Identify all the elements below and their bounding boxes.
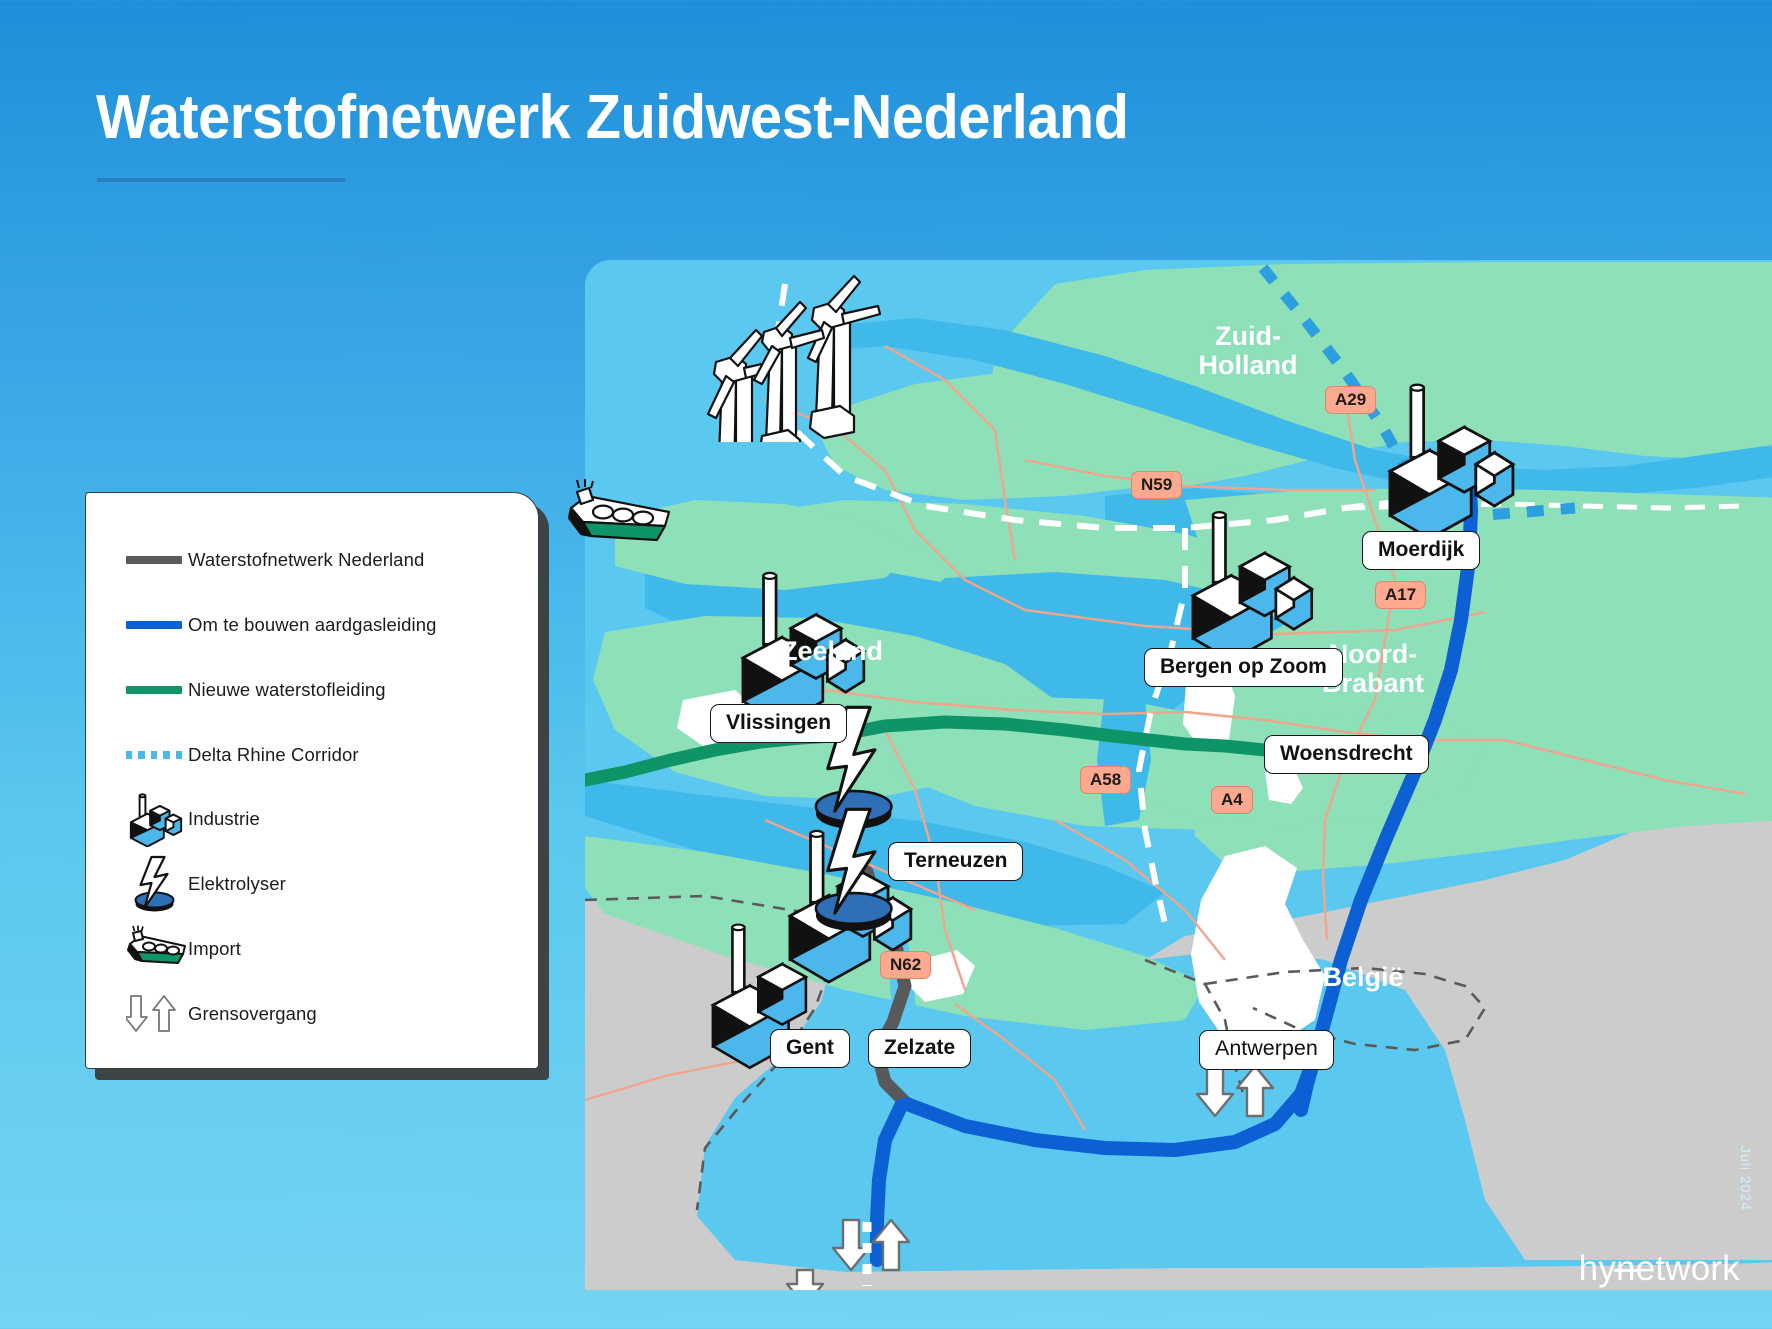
city-label-vlissingen[interactable]: Vlissingen bbox=[710, 704, 847, 743]
legend-label: Om te bouwen aardgasleiding bbox=[188, 614, 437, 636]
hynetwork-logo: hynetwork bbox=[1579, 1249, 1740, 1289]
city-label-bergen-op-zoom[interactable]: Bergen op Zoom bbox=[1144, 648, 1343, 687]
city-label-zelzate[interactable]: Zelzate bbox=[868, 1029, 971, 1068]
logo-suffix: etwork bbox=[1636, 1249, 1740, 1288]
electrolyser-icon bbox=[126, 854, 188, 914]
legend-label: Nieuwe waterstofleiding bbox=[188, 679, 386, 701]
line-blue-swatch bbox=[126, 621, 188, 629]
page-title: Waterstofnetwerk Zuidwest-Nederland bbox=[96, 82, 1128, 153]
date-stamp: Juli 2024 bbox=[1738, 1146, 1754, 1211]
legend-item-import[interactable]: Import bbox=[126, 929, 241, 969]
title-underline bbox=[97, 178, 345, 182]
ship-icon bbox=[126, 925, 188, 973]
import-ship-icon bbox=[565, 478, 681, 554]
border-crossing-arrows-icon bbox=[126, 993, 188, 1035]
road-shield-a58: A58 bbox=[1080, 766, 1131, 794]
legend-label: Delta Rhine Corridor bbox=[188, 744, 359, 766]
wind-turbines-group bbox=[690, 262, 900, 442]
line-dotted-lightblue-swatch bbox=[126, 751, 188, 759]
road-shield-a29: A29 bbox=[1325, 386, 1376, 414]
infographic-canvas: Waterstofnetwerk Zuidwest-Nederland bbox=[0, 0, 1772, 1329]
legend-item-nieuwe-waterstofleiding[interactable]: Nieuwe waterstofleiding bbox=[126, 670, 386, 710]
legend-panel: Waterstofnetwerk Nederland Om te bouwen … bbox=[85, 492, 539, 1069]
legend-item-industrie[interactable]: Industrie bbox=[126, 799, 260, 839]
legend-label: Grensovergang bbox=[188, 1003, 317, 1025]
road-shield-n59: N59 bbox=[1131, 471, 1182, 499]
city-label-moerdijk[interactable]: Moerdijk bbox=[1362, 531, 1480, 570]
logo-prefix: hy bbox=[1579, 1249, 1616, 1288]
city-label-woensdrecht[interactable]: Woensdrecht bbox=[1264, 735, 1429, 774]
legend-item-delta-rhine-corridor[interactable]: Delta Rhine Corridor bbox=[126, 735, 359, 775]
legend-label: Industrie bbox=[188, 808, 260, 830]
legend-label: Import bbox=[188, 938, 241, 960]
legend-item-om-te-bouwen-aardgasleiding[interactable]: Om te bouwen aardgasleiding bbox=[126, 605, 437, 645]
line-green-swatch bbox=[126, 686, 188, 694]
legend-label: Waterstofnetwerk Nederland bbox=[188, 549, 424, 571]
city-label-gent[interactable]: Gent bbox=[770, 1029, 850, 1068]
city-label-antwerpen[interactable]: Antwerpen bbox=[1199, 1030, 1334, 1070]
legend-item-elektrolyser[interactable]: Elektrolyser bbox=[126, 864, 286, 904]
line-gray-swatch bbox=[126, 556, 188, 564]
legend-item-grensovergang[interactable]: Grensovergang bbox=[126, 994, 317, 1034]
factory-icon bbox=[126, 791, 188, 847]
road-shield-n62: N62 bbox=[880, 951, 931, 979]
legend-label: Elektrolyser bbox=[188, 873, 286, 895]
road-shield-a4: A4 bbox=[1211, 786, 1253, 814]
road-shield-a17: A17 bbox=[1375, 581, 1426, 609]
city-label-terneuzen[interactable]: Terneuzen bbox=[888, 842, 1023, 881]
legend-item-waterstofnetwerk-nederland[interactable]: Waterstofnetwerk Nederland bbox=[126, 540, 424, 580]
logo-n-strike: n bbox=[1616, 1249, 1636, 1288]
